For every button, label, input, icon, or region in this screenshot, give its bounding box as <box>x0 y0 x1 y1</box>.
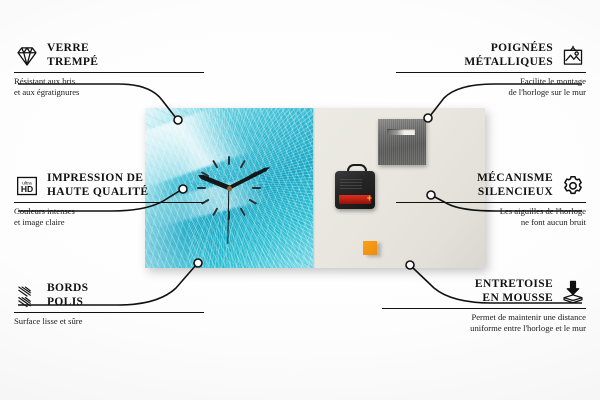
mechanism-vent <box>340 179 362 189</box>
callout-title: BORDS POLIS <box>47 282 88 309</box>
handle-slot <box>387 129 415 135</box>
callout-subtitle: Surface lisse et sûre <box>14 316 204 327</box>
callout-impression-haute-qualite: ultra HD IMPRESSION DE HAUTE QUALITÉ Cou… <box>14 172 204 228</box>
callout-poignees-metalliques: POIGNÉES MÉTALLIQUES Facilite le montage… <box>396 42 586 98</box>
callout-divider <box>396 202 586 203</box>
callout-header: MÉCANISME SILENCIEUX <box>396 172 586 199</box>
clock-center-cap <box>227 186 232 191</box>
polished-edge-icon <box>14 283 40 309</box>
arrow-onto-foam-icon <box>560 279 586 305</box>
metal-hanging-handle <box>378 119 426 165</box>
brushed-metal-grain <box>378 119 426 165</box>
mechanism-body <box>335 171 375 209</box>
callout-divider <box>14 202 204 203</box>
foam-spacer-pad <box>363 241 377 255</box>
ultra-hd-icon-large-text: HD <box>21 184 33 194</box>
callout-subtitle: Résistant aux bris et aux égratignures <box>14 76 204 97</box>
ultra-hd-icon: ultra HD <box>14 173 40 199</box>
mechanism-battery <box>339 195 371 204</box>
callout-header: VERRE TREMPÉ <box>14 42 204 69</box>
callout-title: VERRE TREMPÉ <box>47 42 98 69</box>
callout-header: ENTRETOISE EN MOUSSE <box>382 278 586 305</box>
callout-divider <box>14 72 204 73</box>
gear-icon <box>560 173 586 199</box>
callout-header: POIGNÉES MÉTALLIQUES <box>396 42 586 69</box>
callout-title: ENTRETOISE EN MOUSSE <box>475 278 553 305</box>
callout-entretoise-en-mousse: ENTRETOISE EN MOUSSE Permet de maintenir… <box>382 278 586 334</box>
hanging-picture-frame-icon <box>560 43 586 69</box>
callout-title: IMPRESSION DE HAUTE QUALITÉ <box>47 172 148 199</box>
clock-mechanism <box>335 171 375 209</box>
callout-verre-trempe: VERRE TREMPÉ Résistant aux bris et aux é… <box>14 42 204 98</box>
callout-subtitle: Permet de maintenir une distance uniform… <box>382 312 586 333</box>
diamond-icon <box>14 43 40 69</box>
callout-subtitle: Facilite le montage de l'horloge sur le … <box>396 76 586 97</box>
callout-title: MÉCANISME SILENCIEUX <box>477 172 553 199</box>
callout-title: POIGNÉES MÉTALLIQUES <box>464 42 553 69</box>
callout-divider <box>396 72 586 73</box>
callout-divider <box>382 308 586 309</box>
callout-header: BORDS POLIS <box>14 282 204 309</box>
panel-edge-shadow <box>313 108 315 268</box>
callout-bords-polis: BORDS POLIS Surface lisse et sûre <box>14 282 204 327</box>
callout-mecanisme-silencieux: MÉCANISME SILENCIEUX Les aiguilles de l'… <box>396 172 586 228</box>
callout-subtitle: Couleurs intenses et image claire <box>14 206 204 227</box>
callout-divider <box>14 312 204 313</box>
callout-subtitle: Les aiguilles de l'horloge ne font aucun… <box>396 206 586 227</box>
callout-header: ultra HD IMPRESSION DE HAUTE QUALITÉ <box>14 172 204 199</box>
infographic-canvas: VERRE TREMPÉ Résistant aux bris et aux é… <box>0 0 600 400</box>
